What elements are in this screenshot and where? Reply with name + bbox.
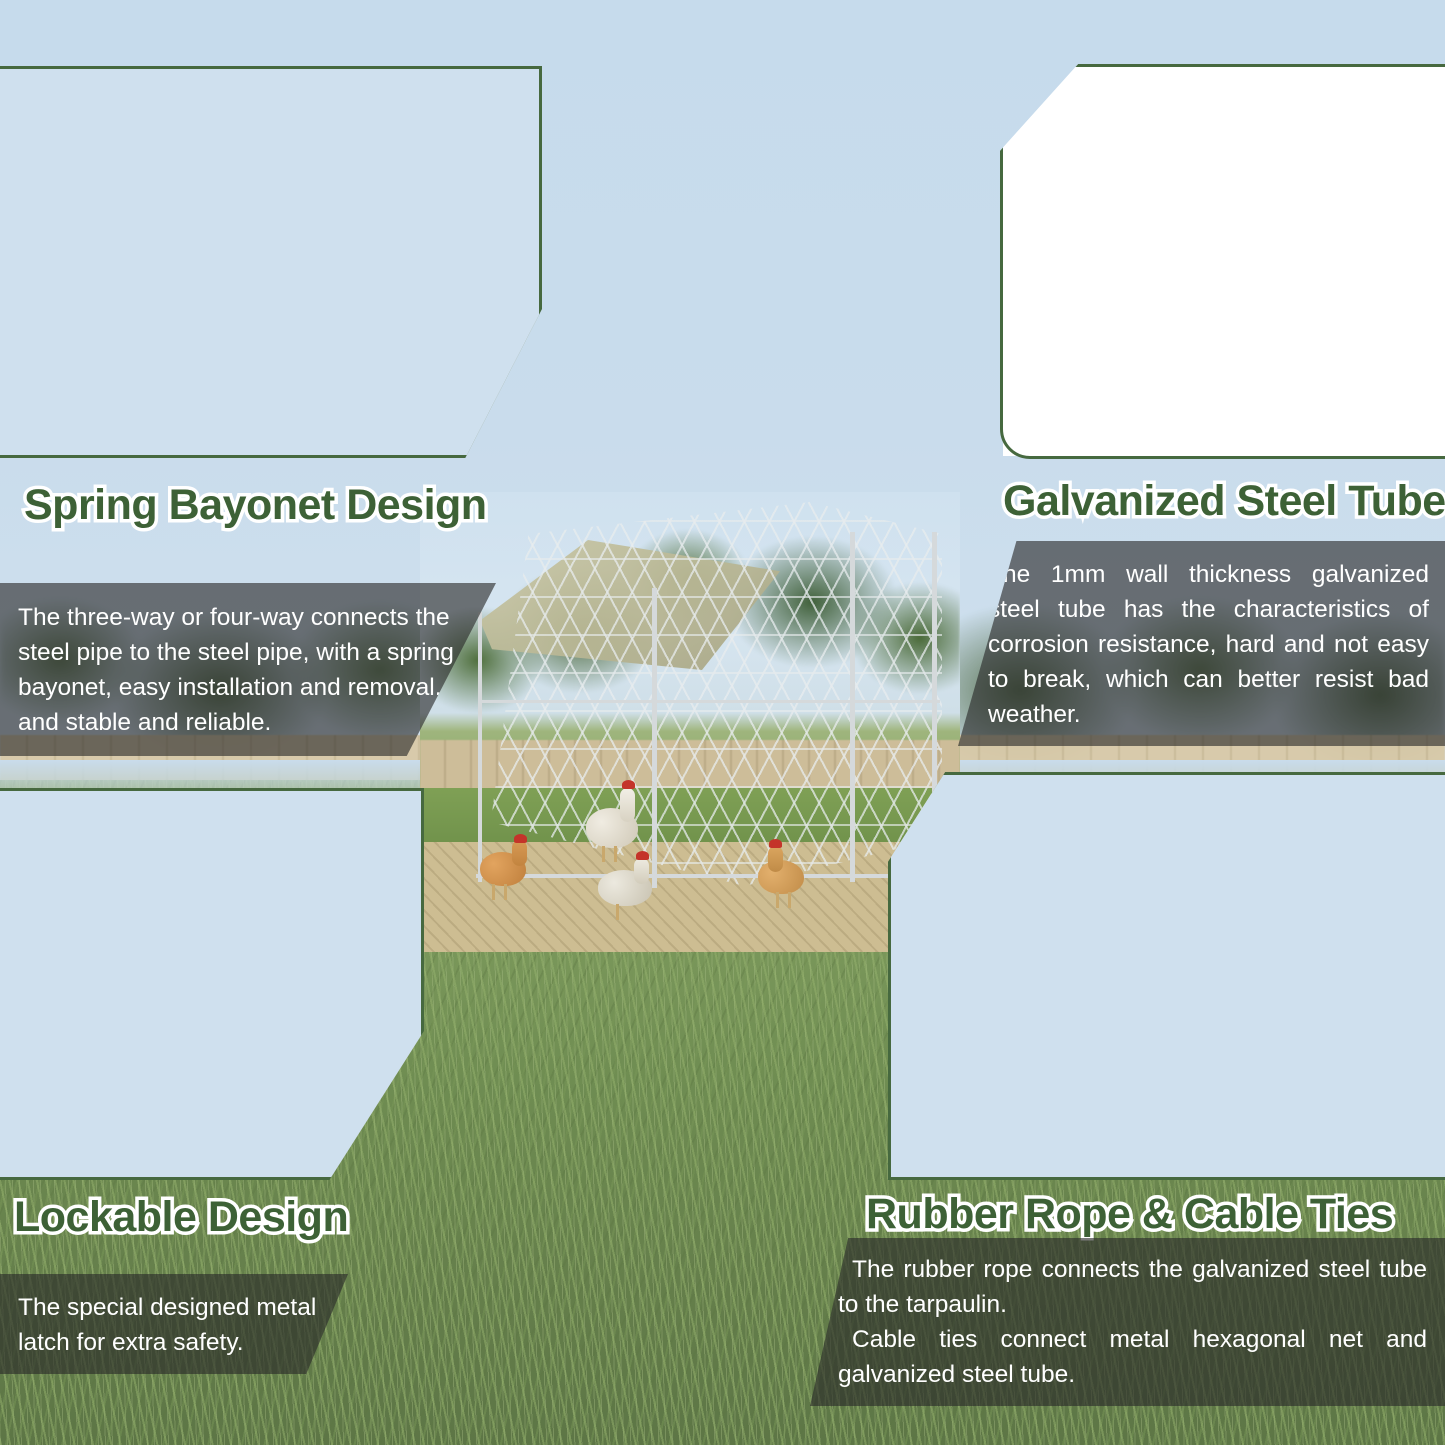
feature-photo-spring-bayonet xyxy=(0,66,542,458)
chicken-comb xyxy=(636,851,649,860)
center-product-photo xyxy=(420,492,960,952)
chicken-leg xyxy=(492,884,495,900)
chicken-leg xyxy=(776,892,779,908)
coop-frame-rail xyxy=(476,874,946,878)
coop-frame-post xyxy=(478,612,482,882)
feature-description-lockable-design: The special designed metal latch for ext… xyxy=(0,1274,348,1374)
description-text-line-1: The rubber rope connects the galvanized … xyxy=(838,1252,1427,1322)
chicken-neck xyxy=(634,858,649,884)
chicken-leg xyxy=(614,846,617,862)
feature-photo-rubber-rope-cable-ties xyxy=(888,772,1445,1180)
feature-photo-galvanized-tube xyxy=(1000,64,1445,459)
description-text: The three-way or four-way connects the s… xyxy=(18,600,474,740)
chicken-neck xyxy=(512,840,527,866)
chicken-neck xyxy=(620,788,635,822)
chicken-leg xyxy=(616,904,619,920)
coop-frame-post xyxy=(850,532,855,882)
chicken-comb xyxy=(514,834,527,843)
coop-frame-post xyxy=(652,588,657,888)
panel-border xyxy=(1000,64,1445,459)
feature-title-galvanized-steel-tube: Galvanized Steel Tube xyxy=(1003,477,1445,526)
description-text-line-2: Cable ties connect metal hexagonal net a… xyxy=(838,1322,1427,1392)
chicken-leg xyxy=(602,846,605,862)
coop-frame-rail xyxy=(480,700,940,703)
panel-border xyxy=(0,66,542,458)
chicken-leg xyxy=(788,892,791,908)
chicken-comb xyxy=(622,780,635,789)
chicken-neck xyxy=(768,846,783,872)
feature-title-lockable-design: Lockable Design xyxy=(14,1193,348,1242)
chicken-comb xyxy=(769,839,782,848)
feature-description-galvanized-steel-tube: The 1mm wall thickness galvanized steel … xyxy=(958,541,1445,746)
panel-border xyxy=(0,788,424,1180)
description-text: The special designed metal latch for ext… xyxy=(18,1290,328,1360)
feature-title-spring-bayonet: Spring Bayonet Design xyxy=(24,481,487,530)
feature-description-rubber-rope-cable-ties: The rubber rope connects the galvanized … xyxy=(810,1238,1445,1406)
panel-border xyxy=(888,772,1445,1180)
description-text: The 1mm wall thickness galvanized steel … xyxy=(988,557,1429,732)
chicken-leg xyxy=(504,884,507,900)
feature-photo-lockable-design xyxy=(0,788,424,1180)
feature-title-rubber-rope-cable-ties: Rubber Rope & Cable Ties xyxy=(866,1190,1393,1239)
